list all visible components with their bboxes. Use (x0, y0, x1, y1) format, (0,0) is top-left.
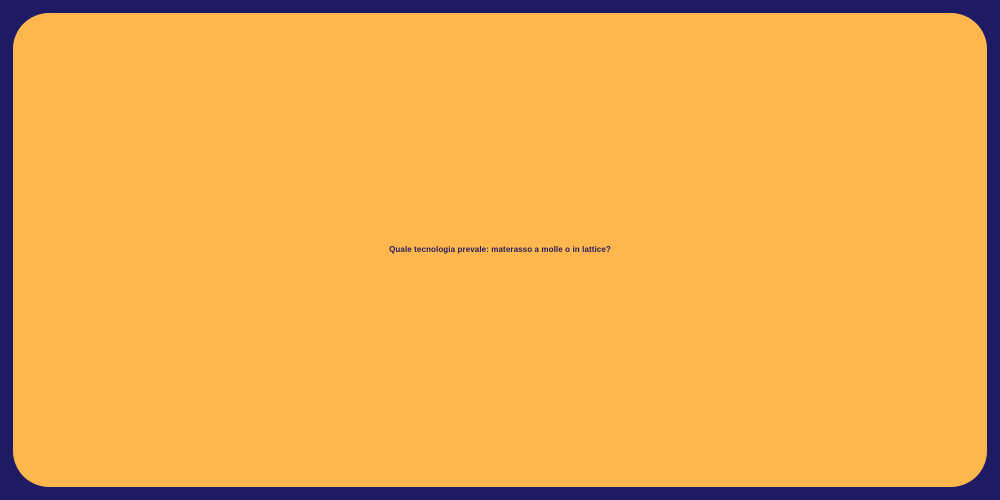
page-title: Quale tecnologia prevale: materasso a mo… (13, 245, 987, 255)
screenshot-root: Quale tecnologia prevale: materasso a mo… (0, 0, 1000, 500)
content-card: Quale tecnologia prevale: materasso a mo… (13, 13, 987, 487)
